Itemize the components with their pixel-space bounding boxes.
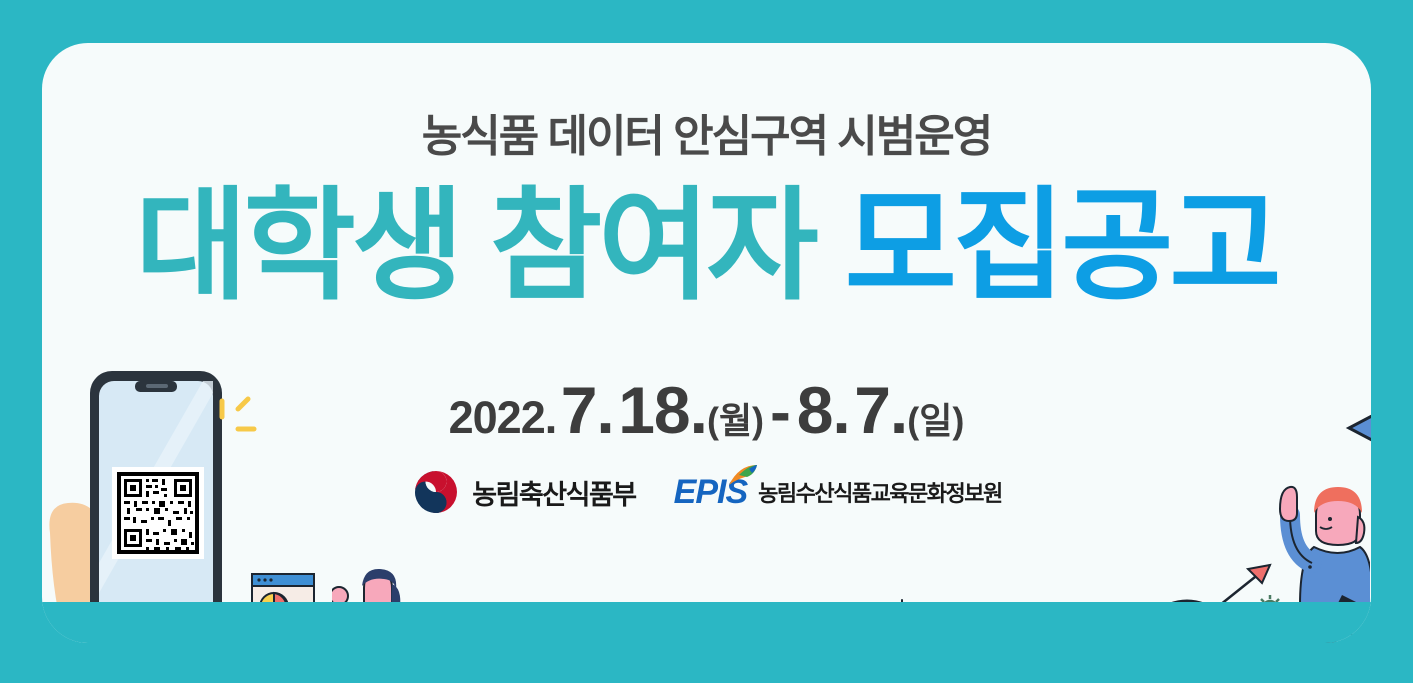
date-end-weekday: (일) bbox=[907, 400, 964, 441]
date-range: 2022. 7. 18.(월)-8. 7.(일) bbox=[0, 372, 1413, 448]
page-title: 대학생 참여자 모집공고 bbox=[0, 182, 1413, 310]
ministry-logo: 농림축산식품부 bbox=[411, 468, 635, 516]
date-start-month: 7. bbox=[561, 373, 614, 447]
date-end-month: 8. bbox=[797, 373, 850, 447]
bottom-teal-band bbox=[42, 602, 1371, 643]
epis-wordmark-wrap: EPIS bbox=[674, 473, 747, 512]
epis-swoosh-icon bbox=[727, 463, 759, 489]
epis-logo-label: 농림수산식품교육문화정보원 bbox=[758, 476, 1002, 508]
date-year: 2022. bbox=[449, 392, 557, 443]
logo-row: 농림축산식품부 EPIS 농림수산식품교육문화정보원 bbox=[0, 468, 1413, 516]
date-start-weekday: (월) bbox=[707, 400, 764, 441]
headline-segment-blue: 모집공고 bbox=[845, 178, 1278, 314]
epis-logo: EPIS 농림수산식품교육문화정보원 bbox=[674, 473, 1002, 512]
taegeuk-icon bbox=[411, 468, 461, 516]
date-dash: - bbox=[764, 378, 797, 447]
ministry-logo-label: 농림축산식품부 bbox=[472, 473, 635, 512]
date-end-day: 7. bbox=[854, 373, 907, 447]
promo-banner: ✳ ✳ ✳ ✳ bbox=[0, 0, 1413, 683]
date-start-day: 18. bbox=[618, 373, 707, 447]
headline-segment-teal: 대학생 참여자 bbox=[135, 178, 814, 314]
subtitle: 농식품 데이터 안심구역 시범운영 bbox=[0, 100, 1413, 164]
